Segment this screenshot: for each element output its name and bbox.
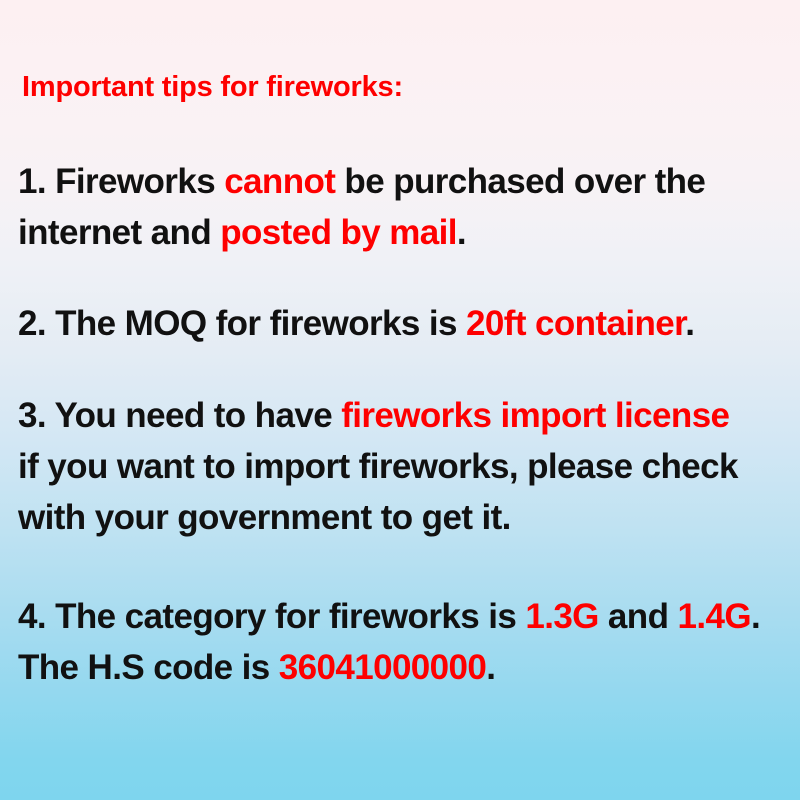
tip-4-text-mid: and	[599, 597, 678, 636]
tip-4-text-c: The H.S code is	[18, 648, 279, 687]
tip-2-text-a: 2. The MOQ for fireworks is	[18, 304, 466, 343]
tip-1-line-1: 1. Fireworks cannot be purchased over th…	[18, 156, 788, 207]
tip-item-2: 2. The MOQ for fireworks is 20ft contain…	[18, 298, 788, 349]
poster-content: Important tips for fireworks: 1. Firewor…	[18, 0, 790, 800]
tip-3-line-3: with your government to get it.	[18, 492, 788, 543]
tip-3-highlight-import-license: fireworks import license	[341, 396, 729, 435]
tip-4-line-1: 4. The category for fireworks is 1.3G an…	[18, 591, 788, 642]
tip-item-1: 1. Fireworks cannot be purchased over th…	[18, 156, 788, 258]
tip-1-line-2: internet and posted by mail.	[18, 207, 788, 258]
tip-1-text-a: 1. Fireworks	[18, 162, 224, 201]
page-title: Important tips for fireworks:	[22, 70, 403, 104]
tip-2-line-1: 2. The MOQ for fireworks is 20ft contain…	[18, 298, 788, 349]
tip-4-highlight-hs-code: 36041000000	[279, 648, 487, 687]
tip-1-text-d: .	[457, 213, 466, 252]
tip-1-text-c: internet and	[18, 213, 220, 252]
tip-1-highlight-cannot: cannot	[224, 162, 335, 201]
fireworks-tips-poster: Important tips for fireworks: 1. Firewor…	[0, 0, 800, 800]
tip-4-text-b: .	[751, 597, 760, 636]
tip-3-text-a: 3. You need to have	[18, 396, 341, 435]
tip-4-text-a: 4. The category for fireworks is	[18, 597, 525, 636]
tip-item-3: 3. You need to have fireworks import lic…	[18, 390, 788, 543]
tip-1-text-b: be purchased over the	[335, 162, 705, 201]
tip-1-highlight-posted-by-mail: posted by mail	[220, 213, 457, 252]
tip-3-line-2: if you want to import fireworks, please …	[18, 441, 788, 492]
tip-3-line-1: 3. You need to have fireworks import lic…	[18, 390, 788, 441]
tip-item-4: 4. The category for fireworks is 1.3G an…	[18, 591, 788, 693]
tip-2-text-b: .	[685, 304, 694, 343]
tip-4-text-d: .	[486, 648, 495, 687]
tip-2-highlight-moq: 20ft container	[466, 304, 685, 343]
tip-4-line-2: The H.S code is 36041000000.	[18, 642, 788, 693]
tip-4-highlight-class-13g: 1.3G	[525, 597, 598, 636]
tip-4-highlight-class-14g: 1.4G	[678, 597, 751, 636]
